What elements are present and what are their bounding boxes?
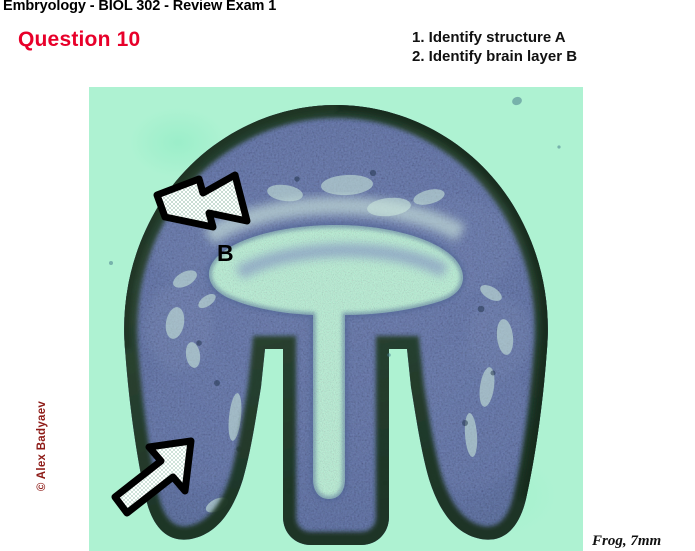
course-title: Embryology - BIOL 302 - Review Exam 1	[3, 0, 276, 14]
micrograph-image: B A	[89, 87, 583, 551]
question-item-1: 1. Identify structure A	[412, 28, 577, 47]
copyright-notice: © Alex Badyaev	[36, 386, 48, 506]
question-item-2: 2. Identify brain layer B	[412, 47, 577, 66]
specimen-caption: Frog, 7mm	[592, 533, 661, 550]
question-list: 1. Identify structure A 2. Identify brai…	[412, 28, 577, 66]
annotation-label-b: B	[217, 242, 234, 265]
page-title: Question 10	[18, 28, 140, 52]
embryo-cross-section	[89, 87, 583, 551]
